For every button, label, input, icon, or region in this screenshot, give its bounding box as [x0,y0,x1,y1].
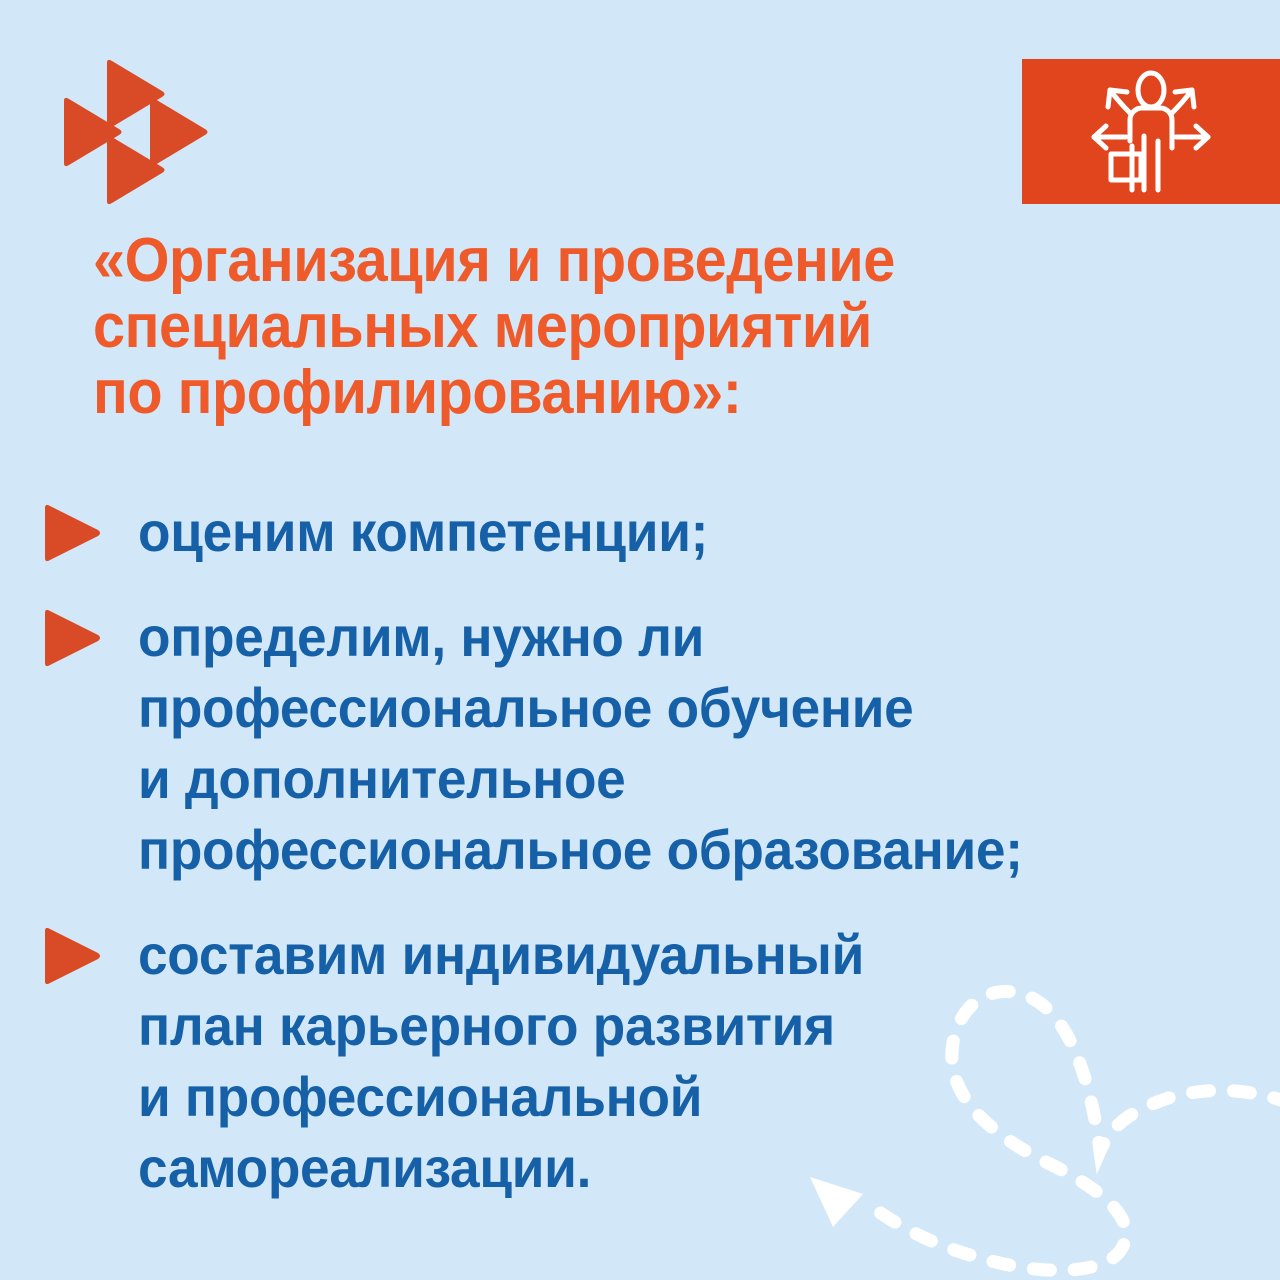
slide-canvas: «Организация и проведение специальных ме… [0,0,1280,1280]
list-item: составим индивидуальный план карьерного … [44,919,1274,1203]
list-item-label: оценим компетенции; [138,496,708,567]
person-with-multidirectional-arrows-icon [1086,68,1216,196]
triangle-bullet-icon [44,607,102,669]
page-title: «Организация и проведение специальных ме… [93,228,1135,426]
list-item: определим, нужно ли профессиональное обу… [44,601,1274,885]
list-item-label: определим, нужно ли профессиональное обу… [138,601,1023,885]
triangle-bullet-icon [44,925,102,987]
list-item: оценим компетенции; [44,496,1274,567]
career-paths-badge [1022,59,1280,204]
bullet-list: оценим компетенции; определим, нужно ли … [44,496,1274,1237]
list-item-label: составим индивидуальный план карьерного … [138,919,864,1203]
four-triangle-logo [60,55,220,205]
logo-triangle-right [150,98,208,166]
triangle-bullet-icon [44,502,102,564]
